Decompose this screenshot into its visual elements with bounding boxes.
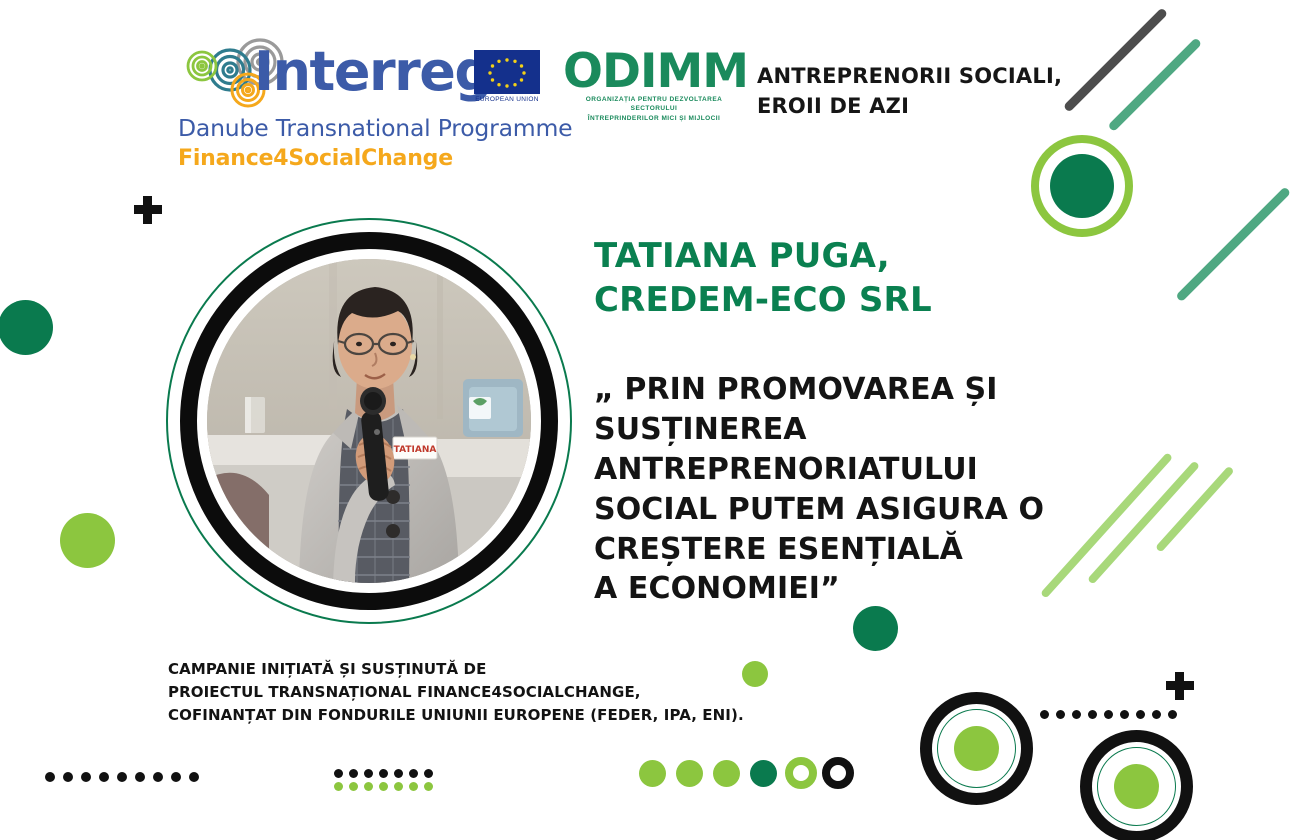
decorative-target-core-1 <box>954 726 999 771</box>
eu-flag-caption: EUROPEAN UNION <box>474 96 540 103</box>
interreg-wordmark: Interreg <box>254 40 492 103</box>
interreg-programme-line: Danube Transnational Programme <box>178 114 533 142</box>
header-logo-row: Interreg <box>178 34 745 171</box>
poster-canvas: Interreg <box>0 0 1295 840</box>
quote-line-1: „ PRIN PROMOVAREA ȘI <box>594 370 1044 410</box>
decorative-dot-lightgreen-left <box>60 513 115 568</box>
decorative-dot-darkgreen-left <box>0 300 53 355</box>
decorative-diagonal-lightgreen-3 <box>1155 466 1235 553</box>
footer-line-1: CAMPANIE INIȚIATĂ ȘI SUSȚINUTĂ DE <box>168 658 744 681</box>
speaker-name-line1: TATIANA PUGA, <box>594 235 932 279</box>
decorative-dotted-connector <box>1040 710 1178 719</box>
decorative-diagonal-teal-line-2 <box>1175 186 1291 302</box>
speaker-name: TATIANA PUGA, CREDEM-ECO SRL <box>594 235 932 322</box>
eu-flag-block: EUROPEAN UNION <box>474 50 540 103</box>
campaign-headline: ANTREPRENORII SOCIALI, EROII DE AZI <box>757 62 1062 122</box>
decorative-sequence-dot-2 <box>676 760 703 787</box>
interreg-project-line: Finance4SocialChange <box>178 146 533 171</box>
decorative-sequence-dot-3 <box>713 760 740 787</box>
campaign-headline-line1: ANTREPRENORII SOCIALI, <box>757 62 1062 92</box>
eu-flag-icon <box>474 50 540 94</box>
decorative-diagonal-lightgreen-1 <box>1040 452 1173 599</box>
odimm-subtitle-line1: ORGANIZAȚIA PENTRU DEZVOLTAREA SECTORULU… <box>563 95 745 114</box>
decorative-sequence-dot-4 <box>750 760 777 787</box>
quote-line-2: SUSȚINEREA <box>594 410 1044 450</box>
decorative-plus-right-stem <box>1175 672 1184 700</box>
decorative-diagonal-gray-line <box>1063 7 1168 112</box>
odimm-logo: ODIMM ORGANIZAȚIA PENTRU DEZVOLTAREA SEC… <box>563 48 745 123</box>
svg-text:TATIANA: TATIANA <box>394 445 437 455</box>
footer-line-2: PROIECTUL TRANSNAȚIONAL FINANCE4SOCIALCH… <box>168 681 744 704</box>
footer-line-3: COFINANȚAT DIN FONDURILE UNIUNII EUROPEN… <box>168 704 744 727</box>
decorative-dot-row-left <box>45 772 175 782</box>
interreg-logo: Interreg <box>178 34 533 171</box>
decorative-dot-lightgreen-mid <box>742 661 768 687</box>
speaker-photo: TATIANA <box>207 259 531 583</box>
quote-line-5: CREȘTERE ESENȚIALĂ <box>594 530 1044 570</box>
speaker-photo-block: TATIANA <box>166 218 572 624</box>
odimm-subtitle-line2: ÎNTREPRINDERILOR MICI ȘI MIJLOCII <box>563 114 745 123</box>
footer-credit: CAMPANIE INIȚIATĂ ȘI SUSȚINUTĂ DE PROIEC… <box>168 658 744 727</box>
quote-line-4: SOCIAL PUTEM ASIGURA O <box>594 490 1044 530</box>
decorative-sequence-dot-1 <box>639 760 666 787</box>
decorative-dot-darkgreen-large <box>1050 154 1114 218</box>
odimm-wordmark: ODIMM <box>563 48 745 95</box>
decorative-sequence-ring-green <box>785 757 817 789</box>
speaker-name-line2: CREDEM-ECO SRL <box>594 279 932 323</box>
quote-line-3: ANTREPRENORIATULUI <box>594 450 1044 490</box>
campaign-headline-line2: EROII DE AZI <box>757 92 1062 122</box>
quote-line-6: A ECONOMIEI” <box>594 569 1044 609</box>
decorative-target-core-2 <box>1114 764 1159 809</box>
decorative-dot-grid-center <box>334 769 424 791</box>
decorative-plus-left-stem <box>143 196 152 224</box>
decorative-sequence-ring-black <box>822 757 854 789</box>
decorative-dot-darkgreen-mid <box>853 606 898 651</box>
speaker-quote: „ PRIN PROMOVAREA ȘI SUSȚINEREA ANTREPRE… <box>594 370 1044 609</box>
